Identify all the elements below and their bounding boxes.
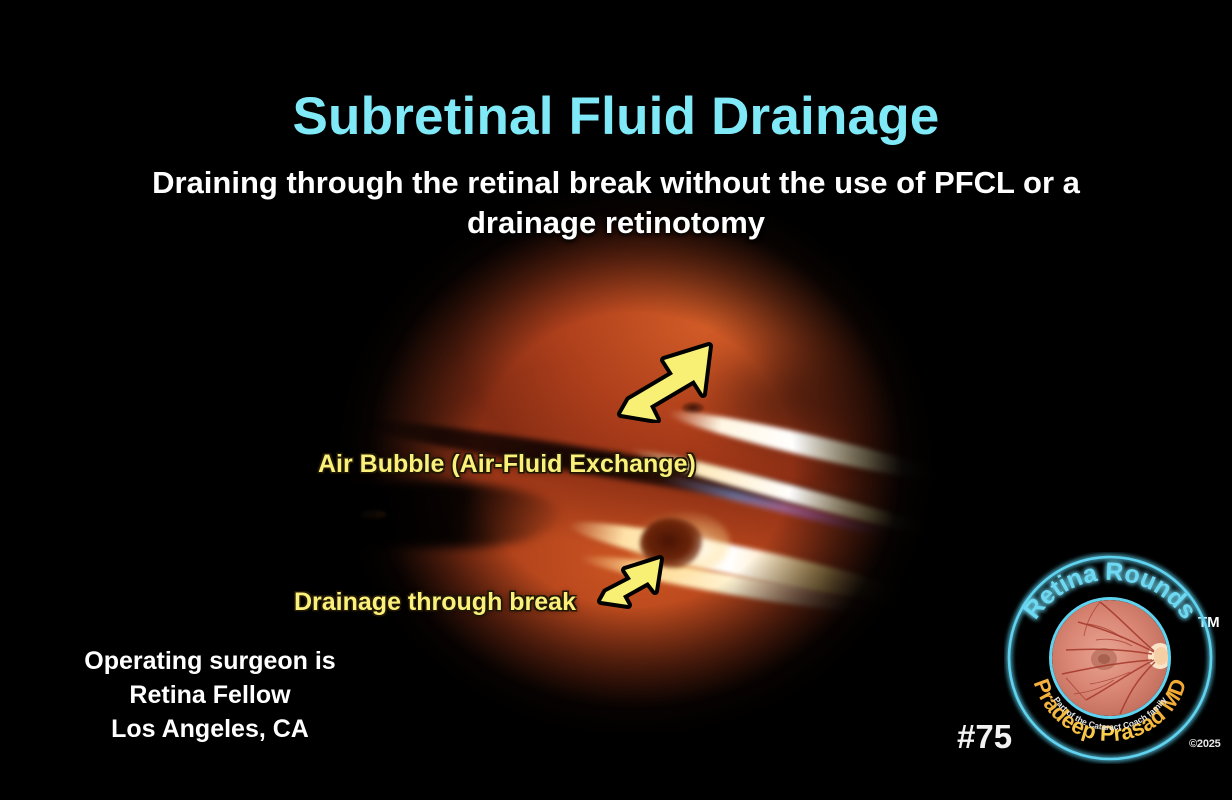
fundus-left-speck xyxy=(360,510,386,519)
credit-line-2: Retina Fellow xyxy=(60,678,360,712)
annotation-air-bubble-label: Air Bubble (Air-Fluid Exchange) xyxy=(318,450,696,479)
retina-rounds-logo: Retina Rounds Pradeep Prasad MD Part of … xyxy=(1004,552,1216,764)
surgeon-credit: Operating surgeon is Retina Fellow Los A… xyxy=(60,644,360,746)
credit-line-1: Operating surgeon is xyxy=(60,644,360,678)
slide-canvas: Subretinal Fluid Drainage Draining throu… xyxy=(0,0,1232,800)
slide-title: Subretinal Fluid Drainage xyxy=(0,86,1232,147)
subtitle-line-2: drainage retinotomy xyxy=(120,203,1112,243)
subtitle-line-1: Draining through the retinal break witho… xyxy=(120,163,1112,203)
annotation-drainage-label: Drainage through break xyxy=(294,588,576,617)
credit-line-3: Los Angeles, CA xyxy=(60,712,360,746)
slide-subtitle: Draining through the retinal break witho… xyxy=(120,163,1112,242)
arrow-drainage-icon xyxy=(597,551,671,614)
arrow-air-bubble-icon xyxy=(615,338,725,428)
